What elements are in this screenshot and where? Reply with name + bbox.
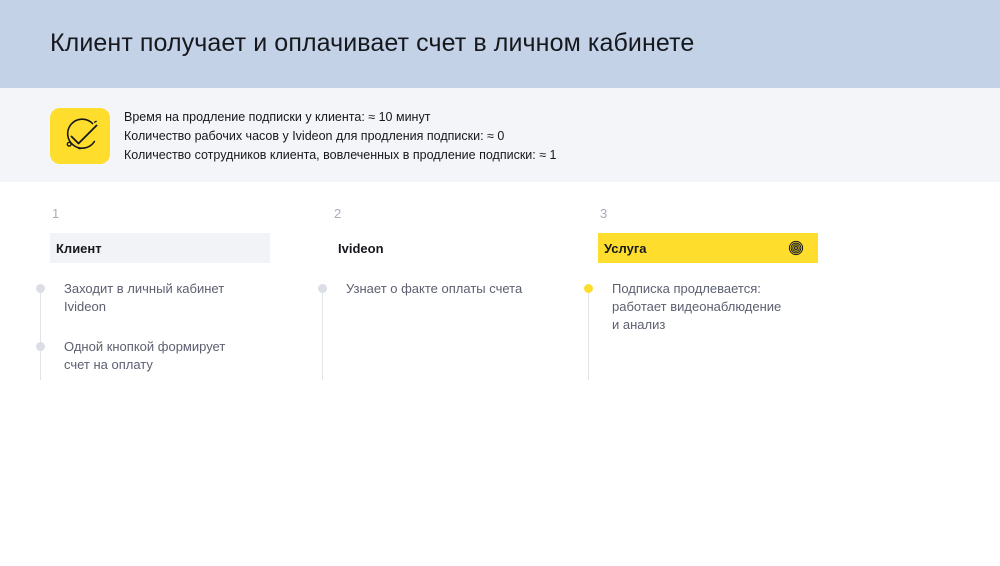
step-header-chip-ivideon[interactable]: Ivideon — [332, 233, 552, 263]
bullet-dot-icon — [318, 284, 327, 293]
stat-line: Количество сотрудников клиента, вовлечен… — [124, 146, 864, 165]
stats-list: Время на продление подписки у клиента: ≈… — [124, 108, 864, 165]
chip-label: Клиент — [56, 241, 102, 256]
bullet-dot-icon — [36, 342, 45, 351]
bullet-text: Одной кнопкой формирует счет на оплату — [64, 339, 225, 372]
spiral-lens-icon — [788, 240, 804, 256]
list-item: Подписка продлевается: работает видеонаб… — [584, 280, 844, 334]
check-circle-icon — [50, 108, 110, 164]
list-item: Одной кнопкой формирует счет на оплату — [36, 338, 296, 374]
connector-line — [322, 288, 323, 380]
chip-label: Услуга — [604, 241, 646, 256]
bullet-list: Заходит в личный кабинет Ivideon Одной к… — [36, 280, 296, 392]
bullet-text: Подписка продлевается: работает видеонаб… — [612, 281, 781, 332]
step-header-chip-service[interactable]: Услуга — [598, 233, 818, 263]
bullet-dot-icon — [584, 284, 593, 293]
stat-line: Количество рабочих часов у Ivideon для п… — [124, 127, 864, 146]
step-header-chip-client[interactable]: Клиент — [50, 233, 270, 263]
bullet-dot-icon — [36, 284, 45, 293]
step-number: 1 — [52, 206, 59, 221]
bullet-text: Заходит в личный кабинет Ivideon — [64, 281, 224, 314]
list-item: Заходит в личный кабинет Ivideon — [36, 280, 296, 316]
step-number: 3 — [600, 206, 607, 221]
bullet-list: Узнает о факте оплаты счета — [318, 280, 578, 316]
page-title: Клиент получает и оплачивает счет в личн… — [50, 29, 694, 58]
bullet-list: Подписка продлевается: работает видеонаб… — [584, 280, 844, 352]
bullet-text: Узнает о факте оплаты счета — [346, 281, 522, 296]
step-number: 2 — [334, 206, 341, 221]
steps-container: 1 Клиент Заходит в личный кабинет Ivideo… — [0, 200, 1000, 400]
list-item: Узнает о факте оплаты счета — [318, 280, 578, 298]
stat-line: Время на продление подписки у клиента: ≈… — [124, 108, 864, 127]
chip-label: Ivideon — [338, 241, 384, 256]
